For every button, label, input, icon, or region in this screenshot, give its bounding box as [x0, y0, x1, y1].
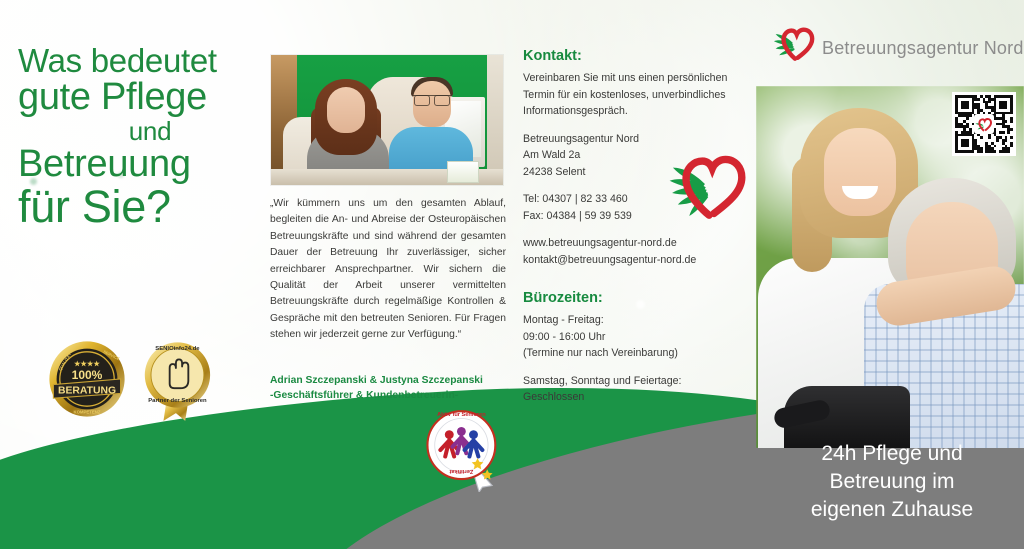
seal-bottom-text: KOMPETENZ — [73, 409, 100, 414]
page-title: Was bedeutet gute Pflege und Betreuung f… — [18, 44, 268, 231]
headline-line-4: Betreuung — [18, 145, 268, 185]
banner-line-3: eigenen Zuhause — [764, 496, 1020, 524]
brand-name: Betreuungsagentur Nord — [822, 38, 1024, 59]
headline-line-1: Was bedeutet — [18, 44, 268, 78]
seal-top-text: SENIOinfo24.de — [155, 346, 200, 352]
office-hours-block: Bürozeiten: Montag - Freitag: 09:00 - 16… — [523, 290, 753, 406]
hours-weekend: Samstag, Sonntag und Feiertage: — [523, 373, 753, 390]
hours-weekend-times: Geschlossen — [523, 389, 753, 406]
banner-line-2: Betreuung im — [764, 468, 1020, 496]
seal-senioinfo24-icon: SENIOinfo24.de Partner der Senioren — [140, 340, 218, 424]
heart-leaf-logo-icon — [975, 115, 993, 133]
hours-weekdays: Montag - Freitag: — [523, 312, 753, 329]
seal-ribbon-text: BERATUNG — [58, 385, 116, 396]
photo-right-wall — [487, 55, 503, 185]
seal-main-text: 100% — [72, 368, 103, 382]
seal-beratung-icon: ★★★★ 100% BERATUNG KOMPETENZ QUALITÄT SE… — [47, 339, 127, 419]
seal-bottom-text: Zertifikat — [449, 468, 473, 474]
photo-caregiver-face — [824, 128, 896, 216]
banner-line-1: 24h Pflege und — [764, 440, 1020, 468]
testimonial-signature: Adrian Szczepanski & Justyna Szczepanski… — [270, 373, 510, 403]
hours-note: (Termine nur nach Vereinbarung) — [523, 345, 753, 362]
qr-center-logo — [974, 114, 994, 134]
couple-at-desk-photo — [271, 55, 503, 185]
photo-brochure — [447, 161, 479, 183]
testimonial-quote: „Wir kümmern uns um den gesamten Ablauf,… — [270, 196, 506, 344]
svg-text:★★★★: ★★★★ — [73, 359, 100, 368]
seal-bottom-text: Partner der Senioren — [148, 398, 207, 404]
contact-intro: Vereinbaren Sie mit uns einen persönlich… — [523, 70, 753, 120]
heart-leaf-logo-icon — [668, 142, 750, 226]
headline-line-3: und — [18, 118, 268, 145]
contact-heading: Kontakt: — [523, 48, 753, 64]
hours-weekday-times: 09:00 - 16:00 Uhr — [523, 329, 753, 346]
qr-code-icon[interactable] — [952, 92, 1016, 156]
photo-woman-face — [327, 87, 365, 133]
testimonial-roles: -Geschäftsführer & Kundenbetreuerin- — [270, 388, 510, 403]
headline-line-5: für Sie? — [18, 184, 268, 231]
brochure-page: Was bedeutet gute Pflege und Betreuung f… — [0, 0, 1024, 549]
hours-heading: Bürozeiten: — [523, 290, 753, 306]
contact-email[interactable]: kontakt@betreuungsagentur-nord.de — [523, 252, 753, 269]
seal-top-text: Aktiv für Senioren — [437, 412, 486, 418]
photo-man-glasses — [413, 95, 451, 104]
heart-leaf-logo-icon — [772, 20, 818, 64]
bottom-banner: 24h Pflege und Betreuung im eigenen Zuha… — [764, 440, 1020, 524]
brand-logo: Betreuungsagentur Nord — [772, 20, 1024, 64]
seal-zertifikat-icon: Aktiv für Senioren Zertifikat — [422, 408, 504, 492]
contact-website[interactable]: www.betreuungsagentur-nord.de — [523, 235, 753, 252]
testimonial-names: Adrian Szczepanski & Justyna Szczepanski — [270, 373, 510, 388]
headline-line-2: gute Pflege — [18, 78, 268, 118]
